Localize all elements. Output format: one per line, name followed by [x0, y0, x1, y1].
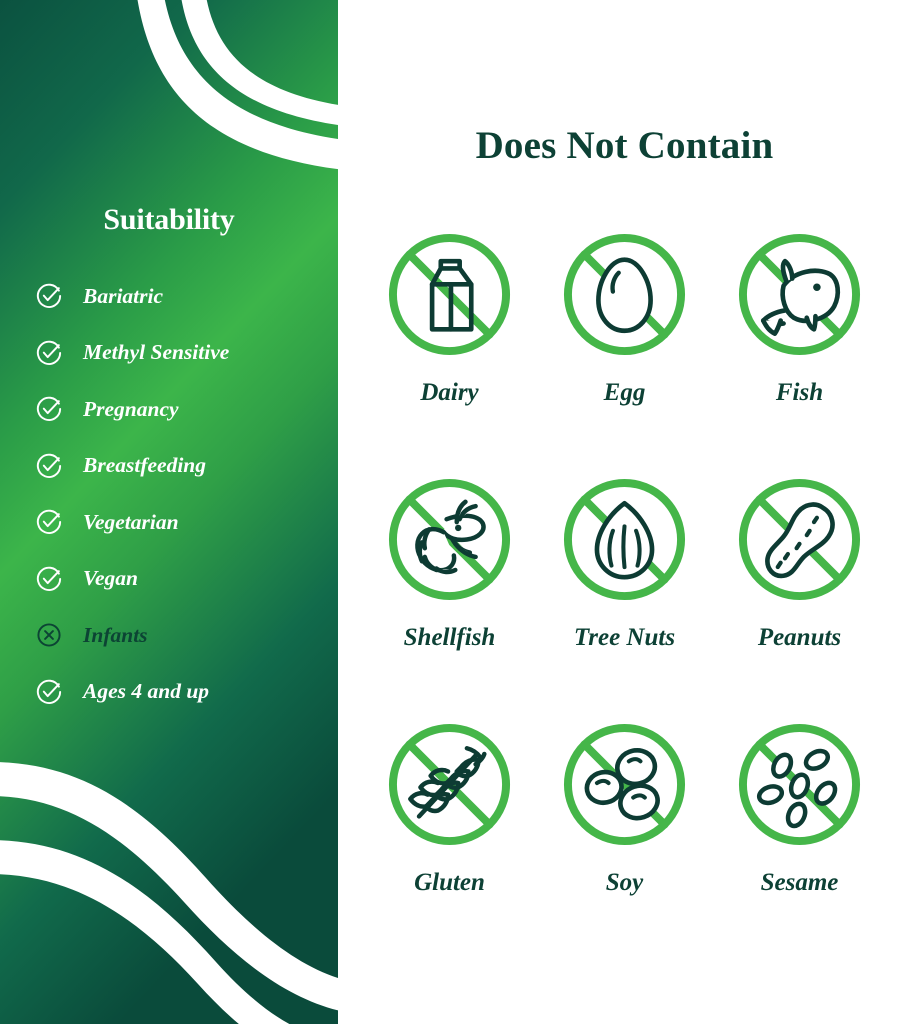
- allergen-item-tree-nuts: Tree Nuts: [537, 467, 712, 712]
- does-not-contain-panel: Does Not Contain Dairy: [338, 0, 911, 1024]
- suitability-list: Bariatric Methyl Sensitive Pregnancy: [36, 268, 336, 720]
- allergen-label: Shellfish: [404, 624, 496, 652]
- suitability-item-label: Breastfeeding: [83, 453, 206, 478]
- allergen-label: Fish: [776, 379, 823, 407]
- suitability-item-ages-4-and-up: Ages 4 and up: [36, 664, 336, 721]
- suitability-title: Suitability: [0, 203, 338, 237]
- check-circle-icon: [36, 283, 62, 309]
- allergen-grid: Dairy Egg: [362, 222, 887, 957]
- allergen-label: Sesame: [761, 869, 839, 897]
- allergen-label: Peanuts: [758, 624, 841, 652]
- allergen-item-gluten: Gluten: [362, 712, 537, 957]
- wheat-icon: [377, 712, 522, 857]
- does-not-contain-title: Does Not Contain: [338, 123, 911, 168]
- x-circle-icon: [36, 622, 62, 648]
- suitability-panel: Suitability Bariatric Methyl Sensitive: [0, 0, 338, 1024]
- suitability-item-label: Bariatric: [83, 284, 163, 309]
- suitability-item-label: Infants: [83, 623, 148, 648]
- suitability-item-label: Methyl Sensitive: [83, 340, 229, 365]
- soybean-icon: [552, 712, 697, 857]
- suitability-item-bariatric: Bariatric: [36, 268, 336, 325]
- allergen-label: Dairy: [420, 379, 478, 407]
- suitability-item-vegan: Vegan: [36, 551, 336, 608]
- suitability-item-label: Vegetarian: [83, 510, 179, 535]
- milk-carton-icon: [377, 222, 522, 367]
- allergen-item-soy: Soy: [537, 712, 712, 957]
- shrimp-icon: [377, 467, 522, 612]
- allergen-label: Egg: [604, 379, 646, 407]
- suitability-item-methyl-sensitive: Methyl Sensitive: [36, 325, 336, 382]
- suitability-item-label: Ages 4 and up: [83, 679, 209, 704]
- check-circle-icon: [36, 396, 62, 422]
- check-circle-icon: [36, 509, 62, 535]
- check-circle-icon: [36, 453, 62, 479]
- suitability-item-label: Pregnancy: [83, 397, 179, 422]
- almond-icon: [552, 467, 697, 612]
- suitability-content: Suitability Bariatric Methyl Sensitive: [0, 0, 338, 1024]
- allergen-item-sesame: Sesame: [712, 712, 887, 957]
- check-circle-icon: [36, 566, 62, 592]
- allergen-label: Tree Nuts: [574, 624, 675, 652]
- suitability-allergen-infographic: Suitability Bariatric Methyl Sensitive: [0, 0, 911, 1024]
- sesame-seeds-icon: [727, 712, 872, 857]
- egg-icon: [552, 222, 697, 367]
- fish-icon: [727, 222, 872, 367]
- suitability-item-label: Vegan: [83, 566, 138, 591]
- allergen-item-shellfish: Shellfish: [362, 467, 537, 712]
- allergen-item-dairy: Dairy: [362, 222, 537, 467]
- check-circle-icon: [36, 340, 62, 366]
- suitability-item-pregnancy: Pregnancy: [36, 381, 336, 438]
- check-circle-icon: [36, 679, 62, 705]
- allergen-label: Soy: [606, 869, 644, 897]
- allergen-item-fish: Fish: [712, 222, 887, 467]
- suitability-item-breastfeeding: Breastfeeding: [36, 438, 336, 495]
- suitability-item-vegetarian: Vegetarian: [36, 494, 336, 551]
- suitability-item-infants: Infants: [36, 607, 336, 664]
- allergen-item-peanuts: Peanuts: [712, 467, 887, 712]
- allergen-label: Gluten: [414, 869, 485, 897]
- allergen-item-egg: Egg: [537, 222, 712, 467]
- peanut-icon: [727, 467, 872, 612]
